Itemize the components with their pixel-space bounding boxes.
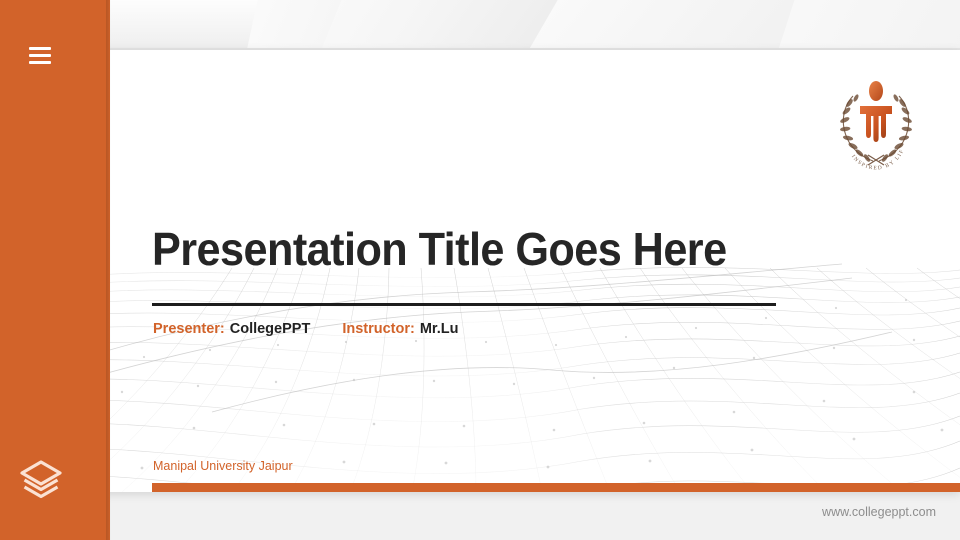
slide-preview-screen: INSPIRED BY LIFE Presentation Title Goes… <box>0 0 960 540</box>
title-divider-rule <box>152 303 776 306</box>
footer-url[interactable]: www.collegeppt.com <box>822 505 936 519</box>
hamburger-bar-2 <box>29 54 51 57</box>
wireframe-mesh-graphic <box>82 262 960 492</box>
slide-title[interactable]: Presentation Title Goes Here <box>152 222 727 276</box>
hamburger-bar-3 <box>29 61 51 64</box>
hamburger-bar-1 <box>29 47 51 50</box>
page-background-header-band <box>0 0 960 50</box>
slide-byline[interactable]: Presenter: CollegePPT Instructor: Mr.Lu <box>153 321 458 337</box>
manipal-university-crest-icon: INSPIRED BY LIFE <box>835 72 917 172</box>
presenter-label: Presenter: <box>153 321 225 337</box>
slide-canvas[interactable]: INSPIRED BY LIFE Presentation Title Goes… <box>82 50 960 492</box>
slide-accent-bar <box>152 483 960 492</box>
organization-name: Manipal University Jaipur <box>153 459 293 473</box>
layers-stack-icon[interactable] <box>16 454 66 504</box>
presenter-value: CollegePPT <box>230 321 311 337</box>
hamburger-menu-icon[interactable] <box>29 47 51 64</box>
instructor-label: Instructor: <box>342 321 415 337</box>
left-rail-shadow <box>106 0 111 540</box>
instructor-value: Mr.Lu <box>420 321 459 337</box>
